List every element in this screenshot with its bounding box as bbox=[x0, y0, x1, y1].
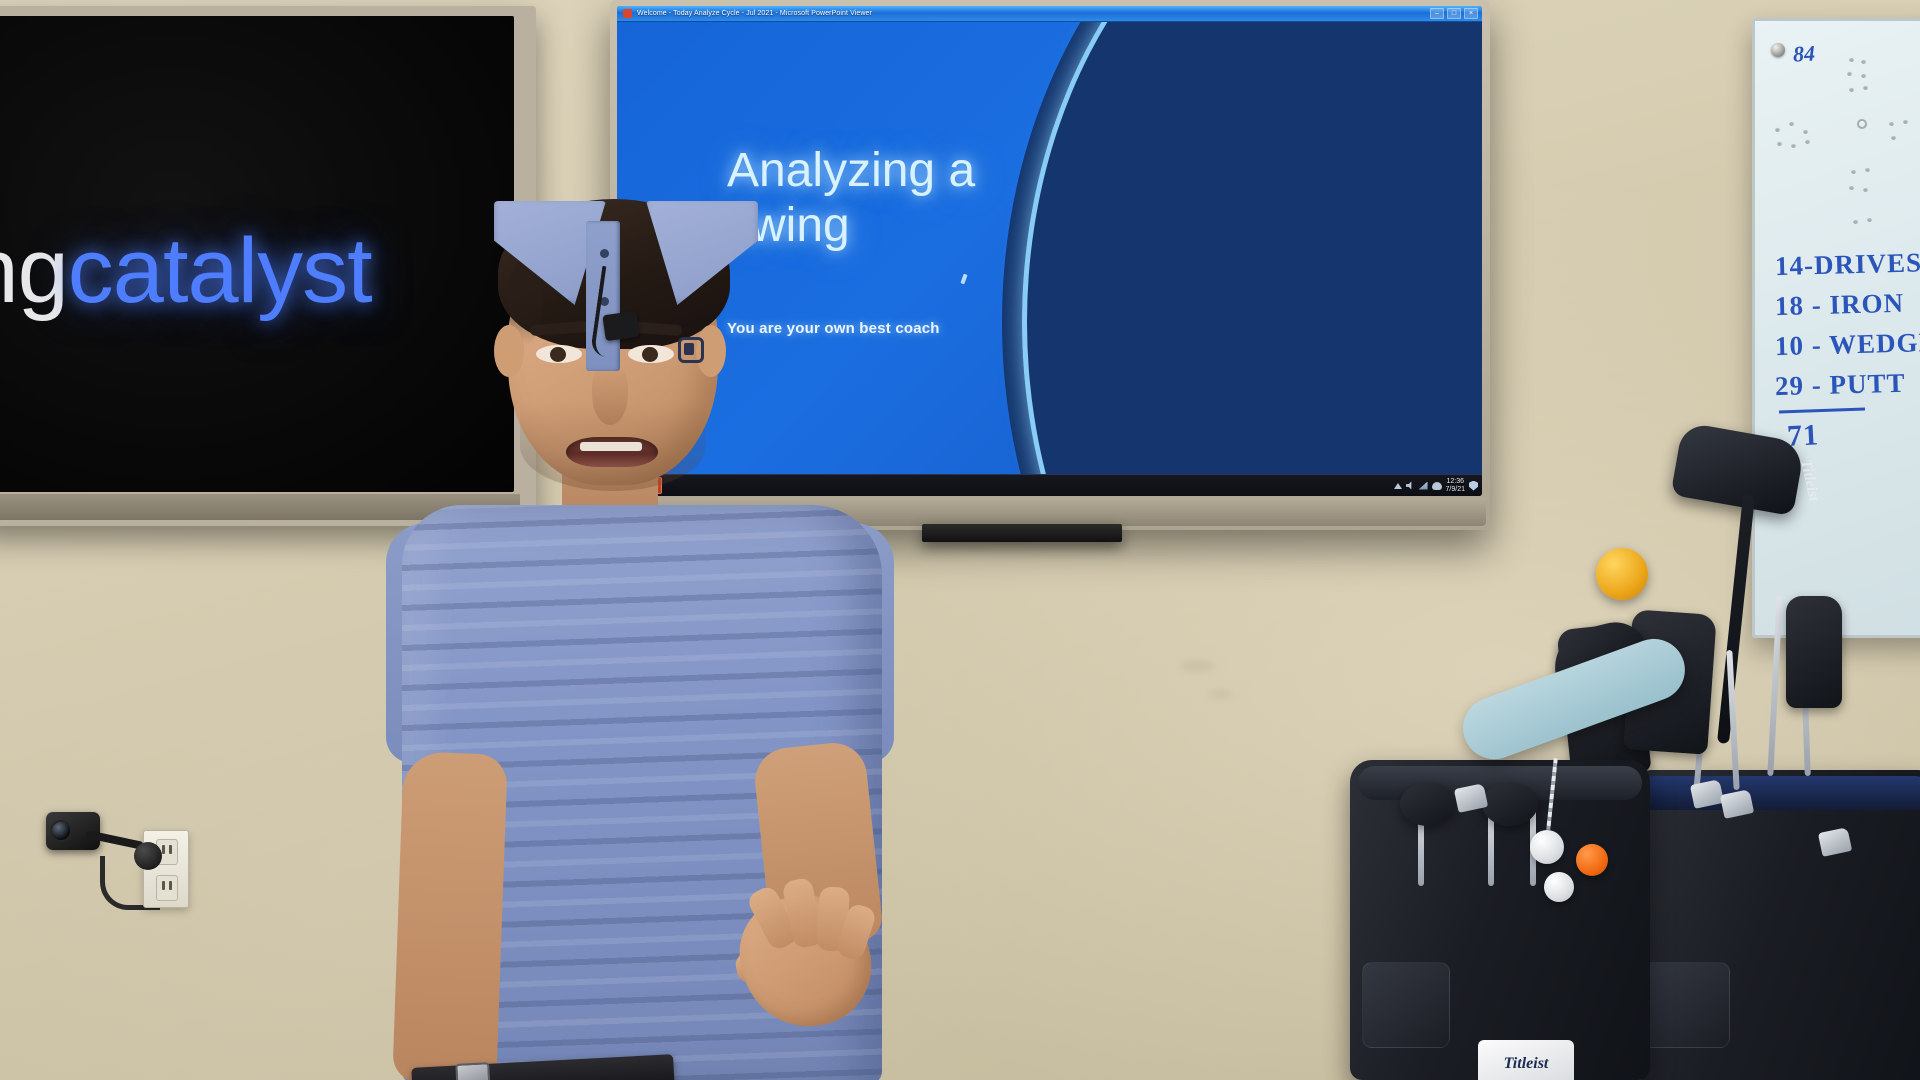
club-head-cover bbox=[1482, 782, 1538, 826]
golf-bag-right bbox=[1630, 770, 1920, 1080]
whiteboard-sum-rule bbox=[1779, 408, 1865, 414]
whiteboard-row: 14-DRIVES bbox=[1775, 247, 1920, 282]
ear-left bbox=[494, 325, 524, 377]
eye-right bbox=[628, 345, 674, 363]
presenter bbox=[390, 205, 910, 1080]
shirt-button bbox=[600, 249, 609, 258]
yellow-ball-marker bbox=[1596, 548, 1648, 600]
swing-catalyst-logo: ingcatalyst bbox=[0, 225, 372, 317]
belt-buckle bbox=[455, 1062, 491, 1080]
row-dash: - bbox=[1811, 330, 1822, 360]
row-label: WEDGE bbox=[1829, 327, 1920, 360]
close-button[interactable]: × bbox=[1464, 8, 1478, 19]
whiteboard-row: 18 - IRON bbox=[1775, 287, 1920, 322]
club-head-cover bbox=[1400, 782, 1456, 826]
row-count: 14 bbox=[1775, 250, 1805, 281]
logo-text-accent: catalyst bbox=[68, 220, 372, 322]
bag-pocket bbox=[1362, 962, 1450, 1048]
show-hidden-icons-icon[interactable] bbox=[1394, 483, 1402, 489]
camera-knob bbox=[134, 842, 162, 870]
classroom-scene: ingcatalyst Welcome - Today Analyze Cycl… bbox=[0, 0, 1920, 1080]
mouth bbox=[566, 437, 658, 467]
network-icon[interactable] bbox=[1419, 482, 1428, 490]
shirt-brand-logo bbox=[678, 337, 704, 363]
wall-smudge bbox=[1210, 690, 1232, 699]
outlet-socket bbox=[156, 875, 178, 901]
system-tray[interactable]: 12:36 7/9/21 bbox=[1394, 478, 1482, 493]
titleist-brand-text: Titleist bbox=[1504, 1055, 1549, 1073]
clock[interactable]: 12:36 7/9/21 bbox=[1446, 478, 1465, 493]
slide-arc-outline bbox=[1022, 22, 1482, 474]
golf-ball-orange bbox=[1576, 844, 1608, 876]
shield-icon[interactable] bbox=[1469, 481, 1478, 491]
whiteboard-row: 10 - WEDGE bbox=[1775, 327, 1920, 362]
camera-lens-icon bbox=[50, 820, 72, 842]
wall-mounted-camera bbox=[46, 812, 172, 878]
window-controls[interactable]: – □ × bbox=[1430, 8, 1478, 19]
row-dash: - bbox=[1811, 370, 1822, 400]
bag-rim bbox=[1638, 776, 1920, 810]
whiteboard-total: 71 bbox=[1786, 412, 1920, 454]
clock-time: 12:36 bbox=[1446, 478, 1465, 485]
whiteboard-score-list: 14-DRIVES 18 - IRON 10 - WEDGE 29 - PUTT… bbox=[1775, 249, 1920, 459]
nose bbox=[592, 363, 628, 425]
window-title-text: Welcome - Today Analyze Cycle - Jul 2021… bbox=[637, 10, 872, 17]
maximize-button[interactable]: □ bbox=[1447, 8, 1461, 19]
minimize-button[interactable]: – bbox=[1430, 8, 1444, 19]
whiteboard-top-number: 84 bbox=[1792, 40, 1815, 67]
row-count: 18 bbox=[1775, 290, 1805, 321]
whiteboard-row: 29 - PUTT bbox=[1775, 367, 1920, 402]
golf-bags: Titleist Titleist bbox=[1400, 500, 1920, 1080]
club-head-cover bbox=[1786, 596, 1842, 708]
logo-text-primary: ing bbox=[0, 220, 68, 322]
eye-left bbox=[536, 345, 582, 363]
powerpoint-title-bar[interactable]: Welcome - Today Analyze Cycle - Jul 2021… bbox=[617, 6, 1482, 22]
lapel-microphone bbox=[602, 311, 639, 341]
row-label: DRIVES bbox=[1814, 247, 1920, 280]
row-label: IRON bbox=[1829, 288, 1904, 320]
bag-pocket bbox=[1642, 962, 1730, 1048]
golf-ball bbox=[1530, 830, 1564, 864]
golf-ball bbox=[1544, 872, 1574, 902]
wall-smudge bbox=[1180, 660, 1214, 672]
arm-left bbox=[392, 751, 507, 1080]
driver-shaft bbox=[1717, 494, 1755, 744]
clock-date: 7/9/21 bbox=[1446, 486, 1465, 493]
powerpoint-icon bbox=[623, 9, 632, 18]
row-dash: - bbox=[1811, 290, 1822, 320]
club-shaft bbox=[1767, 596, 1782, 776]
titleist-towel-tag: Titleist bbox=[1478, 1040, 1574, 1080]
whiteboard-screw bbox=[1771, 43, 1785, 57]
tv-wall-mount bbox=[922, 524, 1122, 542]
row-count: 29 bbox=[1775, 370, 1805, 401]
row-label: PUTT bbox=[1829, 368, 1906, 400]
volume-icon[interactable] bbox=[1406, 481, 1415, 490]
cloud-icon[interactable] bbox=[1432, 482, 1442, 490]
row-count: 10 bbox=[1775, 330, 1805, 361]
mouse-cursor bbox=[960, 274, 967, 285]
